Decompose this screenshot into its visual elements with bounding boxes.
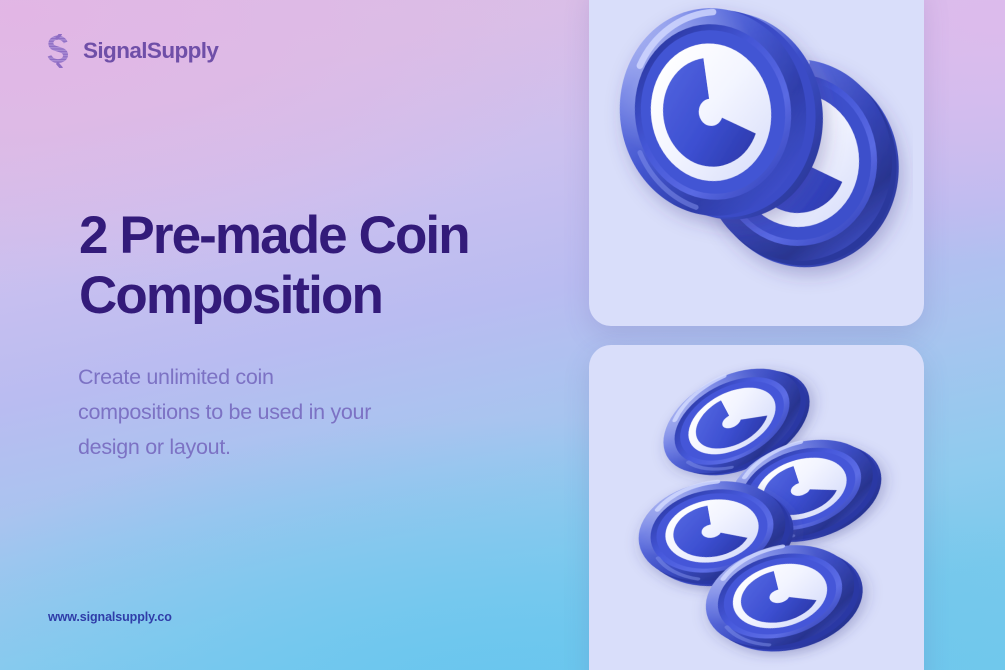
showcase-card-two-coins[interactable] — [589, 0, 924, 326]
signal-s-logo-icon — [44, 34, 74, 68]
brand-logo[interactable]: SignalSupply — [44, 34, 218, 68]
page-subtitle: Create unlimited coin compositions to be… — [78, 360, 388, 464]
poster-canvas: SignalSupply 2 Pre-made Coin Composition… — [0, 0, 1005, 670]
brand-name: SignalSupply — [83, 38, 218, 64]
two-coins-composition-icon — [601, 0, 913, 312]
left-content-column: SignalSupply 2 Pre-made Coin Composition… — [0, 0, 589, 670]
footer-website-url[interactable]: www.signalsupply.co — [48, 610, 172, 624]
page-title: 2 Pre-made Coin Composition — [79, 206, 579, 327]
four-coins-cascade-icon — [599, 353, 915, 670]
showcase-card-four-coins[interactable] — [589, 345, 924, 670]
